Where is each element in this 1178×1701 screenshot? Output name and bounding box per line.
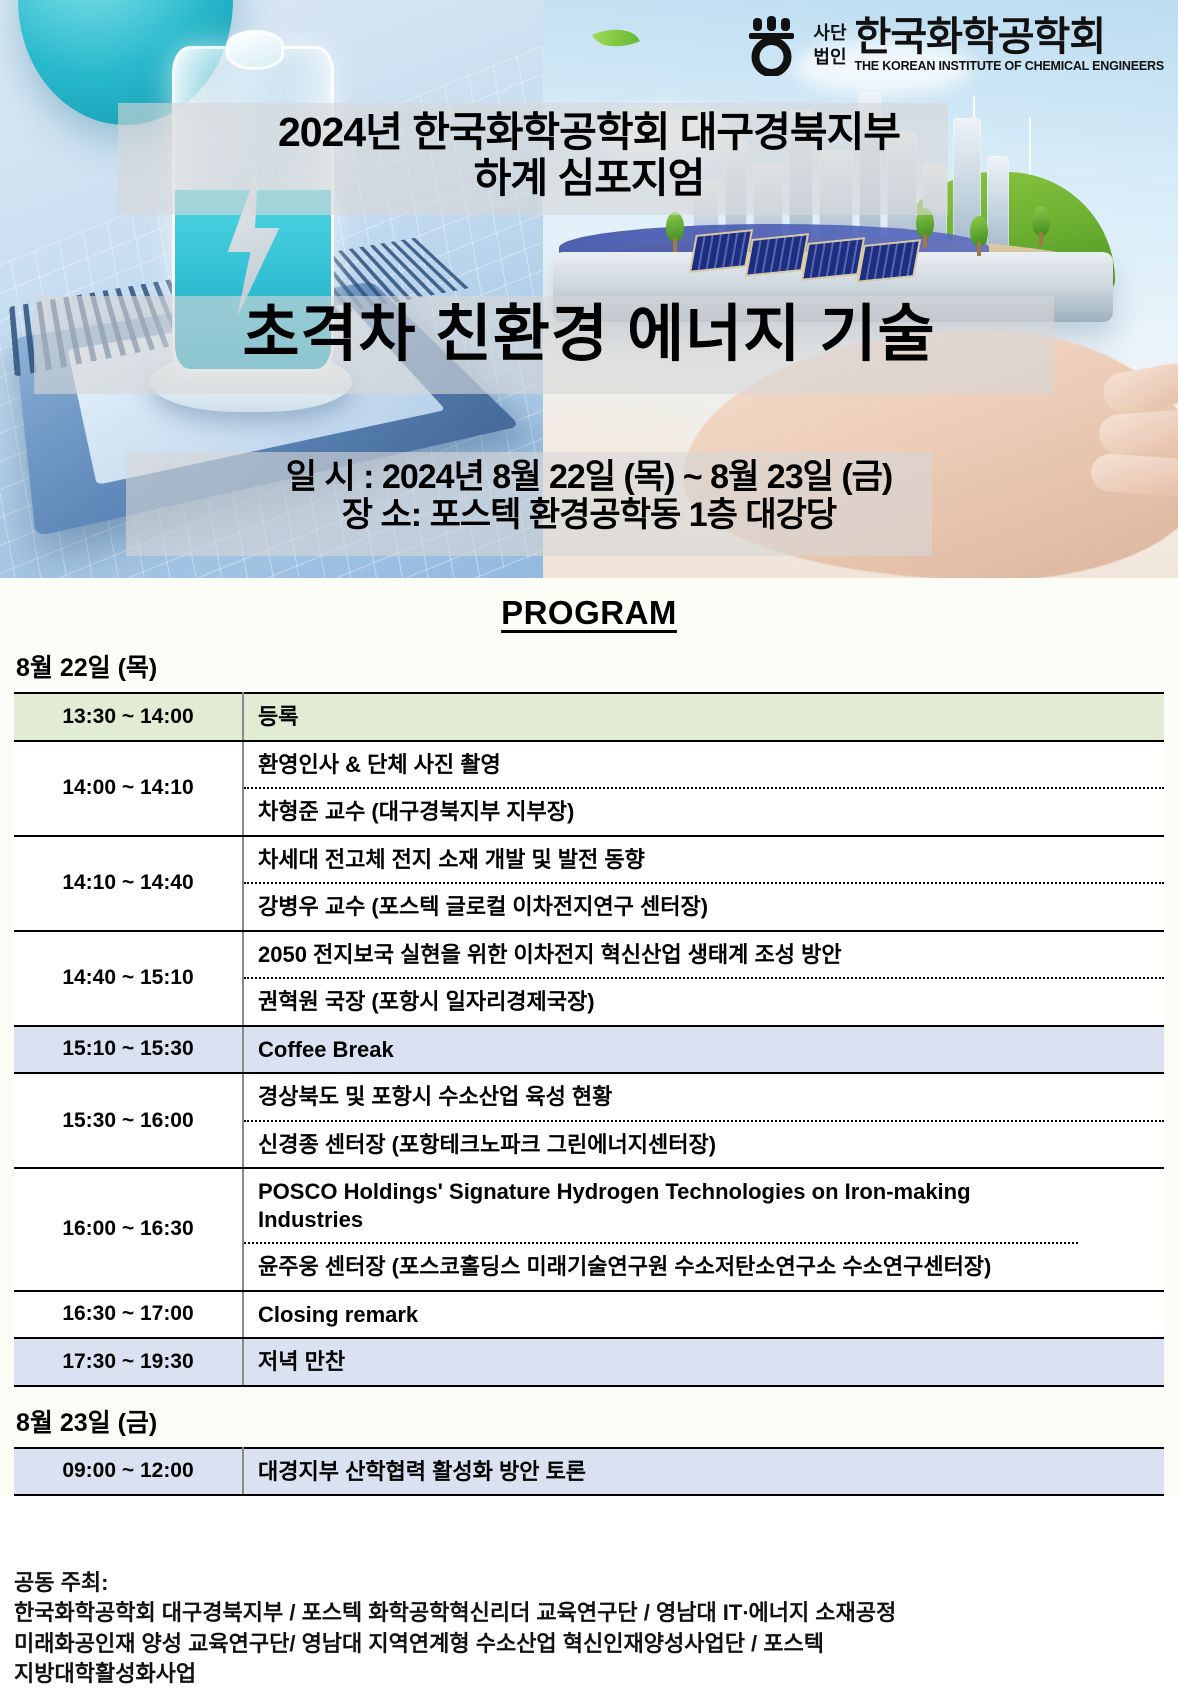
row-time: 09:00 ~ 12:00 [14,1448,243,1496]
logo-english-name: THE KOREAN INSTITUTE OF CHEMICAL ENGINEE… [855,60,1164,73]
table-row: 14:10 ~ 14:40 차세대 전고체 전지 소재 개발 및 발전 동향 강… [14,836,1164,931]
row-speaker: 윤주웅 센터장 (포스코홀딩스 미래기술연구원 수소저탄소연구소 수소연구센터장… [244,1244,1164,1290]
hero-banner: 사단 법인 한국화학공학회 THE KOREAN INSTITUTE OF CH… [0,0,1178,578]
leaf-icon [592,19,640,57]
row-speaker: 신경종 센터장 (포항테크노파크 그린에너지센터장) [244,1122,1164,1168]
row-body: 대경지부 산학협력 활성화 방안 토론 [243,1448,1164,1496]
row-topic: 환영인사 & 단체 사진 촬영 [244,742,1164,790]
finger [1098,408,1178,455]
row-time: 16:30 ~ 17:00 [14,1291,243,1339]
battery-cap [226,30,284,70]
row-topic: 경상북도 및 포항시 수소산업 육성 현황 [244,1074,1164,1122]
row-body: POSCO Holdings' Signature Hydrogen Techn… [243,1168,1164,1291]
row-topic: 2050 전지보국 실현을 위한 이차전지 혁신산업 생태계 조성 방안 [244,932,1164,980]
kiche-emblem-icon [747,14,805,76]
row-single-text: 대경지부 산학협력 활성화 방안 토론 [244,1449,1164,1495]
tree-icon [967,216,991,256]
tree-icon [1029,206,1053,246]
row-body: 차세대 전고체 전지 소재 개발 및 발전 동향 강병우 교수 (포스텍 글로컬… [243,836,1164,931]
row-time: 17:30 ~ 19:30 [14,1338,243,1386]
row-single-text: 저녁 만찬 [244,1339,1164,1385]
table-row: 14:00 ~ 14:10 환영인사 & 단체 사진 촬영 차형준 교수 (대구… [14,741,1164,836]
symposium-title-line1: 2024년 한국화학공학회 대구경북지부 [0,110,1178,156]
symposium-title: 2024년 한국화학공학회 대구경북지부 하계 심포지엄 [0,110,1178,202]
organizers-line-1: 한국화학공학회 대구경북지부 / 포스텍 화학공학혁신리더 교육연구단 / 영남… [14,1598,1164,1628]
row-single-text: Coffee Break [244,1027,1164,1073]
row-time: 14:10 ~ 14:40 [14,836,243,931]
row-body: Closing remark [243,1291,1164,1339]
table-row: 09:00 ~ 12:00 대경지부 산학협력 활성화 방안 토론 [14,1448,1164,1496]
schedule-table-day1: 13:30 ~ 14:00 등록 14:00 ~ 14:10 환영인사 & 단체… [14,692,1164,1387]
table-row: 15:10 ~ 15:30 Coffee Break [14,1026,1164,1074]
organizers-footer: 공동 주최: 한국화학공학회 대구경북지부 / 포스텍 화학공학혁신리더 교육연… [14,1568,1164,1689]
organizers-line-2: 미래화공인재 양성 교육연구단/ 영남대 지역연계형 수소산업 혁신인재양성사업… [14,1629,1164,1659]
organizers-line-3: 지방대학활성화사업 [14,1659,1164,1689]
row-single-text: Closing remark [244,1292,1164,1338]
table-row: 16:30 ~ 17:00 Closing remark [14,1291,1164,1339]
row-time: 14:40 ~ 15:10 [14,931,243,1026]
solar-panel-icon [745,233,809,277]
row-speaker: 강병우 교수 (포스텍 글로컬 이차전지연구 센터장) [244,884,1164,930]
symposium-date: 일 시 : 2024년 8월 22일 (목) ~ 8월 23일 (금) [0,458,1178,496]
row-topic: 차세대 전고체 전지 소재 개발 및 발전 동향 [244,837,1164,885]
solar-panel-icon [801,237,865,281]
row-body: 경상북도 및 포항시 수소산업 육성 현황 신경종 센터장 (포항테크노파크 그… [243,1073,1164,1168]
symposium-venue: 장 소: 포스텍 환경공학동 1층 대강당 [0,496,1178,534]
row-single-text: 등록 [244,694,1164,740]
row-topic: POSCO Holdings' Signature Hydrogen Techn… [244,1169,1078,1244]
program-heading: PROGRAM [14,594,1164,632]
row-body: 등록 [243,693,1164,741]
day-label-2: 8월 23일 (금) [16,1403,1164,1439]
tree-icon [663,212,687,252]
table-row: 16:00 ~ 16:30 POSCO Holdings' Signature … [14,1168,1164,1291]
program-section: PROGRAM 8월 22일 (목) 13:30 ~ 14:00 등록 14:0… [0,578,1178,1496]
row-time: 14:00 ~ 14:10 [14,741,243,836]
row-time: 15:30 ~ 16:00 [14,1073,243,1168]
symposium-info: 일 시 : 2024년 8월 22일 (목) ~ 8월 23일 (금) 장 소:… [0,458,1178,534]
organizers-heading: 공동 주최: [14,1568,1164,1598]
row-time: 13:30 ~ 14:00 [14,693,243,741]
table-row: 17:30 ~ 19:30 저녁 만찬 [14,1338,1164,1386]
row-body: 2050 전지보국 실현을 위한 이차전지 혁신산업 생태계 조성 방안 권혁원… [243,931,1164,1026]
row-body: 저녁 만찬 [243,1338,1164,1386]
solar-panel-icon [857,239,921,283]
logo-prefix-line2: 법인 [813,48,846,66]
schedule-table-day2: 09:00 ~ 12:00 대경지부 산학협력 활성화 방안 토론 [14,1447,1164,1497]
table-row: 15:30 ~ 16:00 경상북도 및 포항시 수소산업 육성 현황 신경종 … [14,1073,1164,1168]
logo-prefix-line1: 사단 [813,24,846,42]
day-label-1: 8월 22일 (목) [16,648,1164,684]
table-row: 13:30 ~ 14:00 등록 [14,693,1164,741]
row-body: Coffee Break [243,1026,1164,1074]
symposium-main-title: 초격차 친환경 에너지 기술 [0,300,1178,369]
row-speaker: 차형준 교수 (대구경북지부 지부장) [244,789,1164,835]
symposium-title-line2: 하계 심포지엄 [0,156,1178,202]
kiche-logo: 사단 법인 한국화학공학회 THE KOREAN INSTITUTE OF CH… [747,14,1164,76]
row-time: 16:00 ~ 16:30 [14,1168,243,1291]
row-speaker: 권혁원 국장 (포항시 일자리경제국장) [244,979,1164,1025]
row-body: 환영인사 & 단체 사진 촬영 차형준 교수 (대구경북지부 지부장) [243,741,1164,836]
row-time: 15:10 ~ 15:30 [14,1026,243,1074]
table-row: 14:40 ~ 15:10 2050 전지보국 실현을 위한 이차전지 혁신산업… [14,931,1164,1026]
logo-korean-name: 한국화학공학회 [855,17,1164,57]
solar-panel-icon [689,229,753,273]
